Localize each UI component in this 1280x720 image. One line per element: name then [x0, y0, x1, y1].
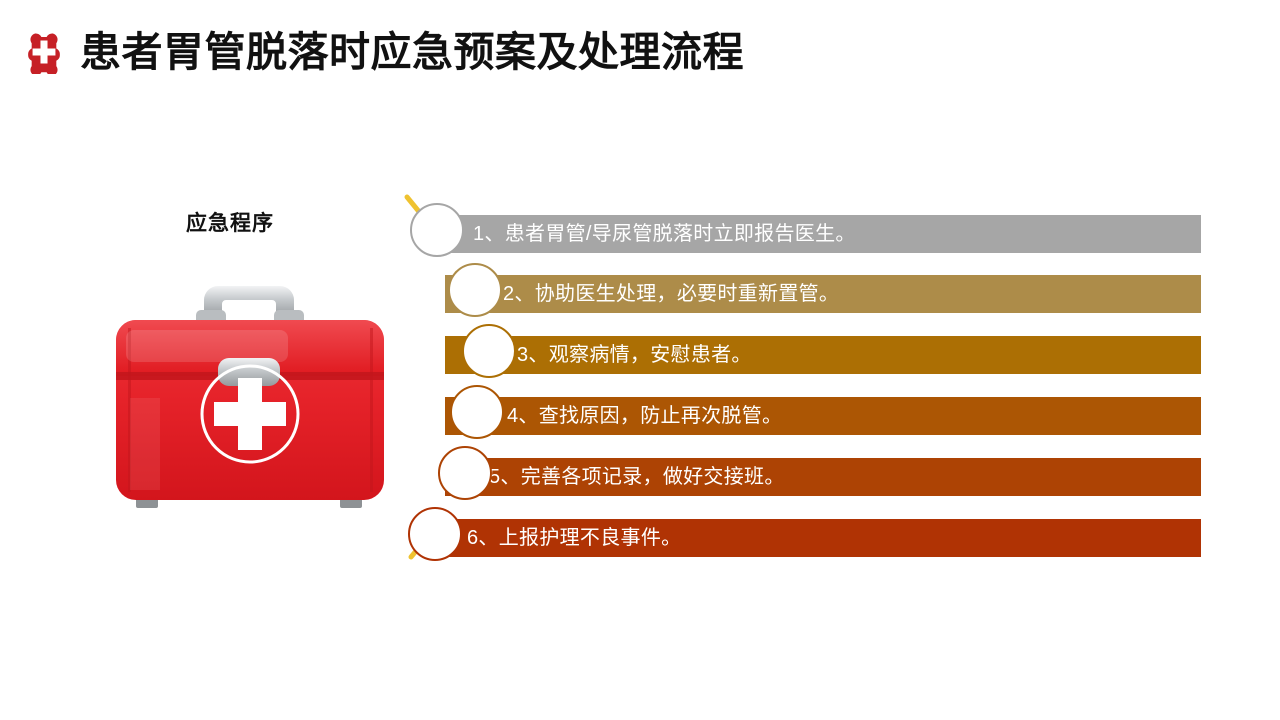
flow-node[interactable]	[438, 446, 492, 500]
flow-row: 6、上报护理不良事件。	[445, 519, 1201, 557]
slide-title-row: 患者胃管脱落时应急预案及处理流程	[22, 30, 744, 74]
flow-bar[interactable]: 2、协助医生处理，必要时重新置管。	[445, 275, 1201, 313]
slide-canvas: 患者胃管脱落时应急预案及处理流程 应急程序	[0, 0, 1280, 720]
flow-step-text: 2、协助医生处理，必要时重新置管。	[503, 284, 839, 304]
flow-node[interactable]	[410, 203, 464, 257]
flow-node[interactable]	[450, 385, 504, 439]
flow-bar[interactable]: 1、患者胃管/导尿管脱落时立即报告医生。	[445, 215, 1201, 253]
flow-row: 3、观察病情，安慰患者。	[445, 336, 1201, 374]
flow-step-text: 1、患者胃管/导尿管脱落时立即报告医生。	[473, 224, 856, 244]
flow-step-text: 6、上报护理不良事件。	[467, 528, 681, 548]
flow-row: 4、查找原因，防止再次脱管。	[445, 397, 1201, 435]
flow-node[interactable]	[462, 324, 516, 378]
flow-row: 1、患者胃管/导尿管脱落时立即报告医生。	[445, 215, 1201, 253]
first-aid-kit-icon	[108, 258, 393, 526]
red-cross-icon	[22, 30, 66, 74]
emergency-procedure-label: 应急程序	[186, 207, 274, 237]
page-title: 患者胃管脱落时应急预案及处理流程	[80, 32, 744, 73]
flow-row: 5、完善各项记录，做好交接班。	[445, 458, 1201, 496]
flow-step-text: 3、观察病情，安慰患者。	[517, 345, 752, 365]
flow-node[interactable]	[448, 263, 502, 317]
flow-bar[interactable]: 4、查找原因，防止再次脱管。	[445, 397, 1201, 435]
first-aid-kit-illustration	[108, 258, 393, 526]
flow-step-text: 5、完善各项记录，做好交接班。	[489, 467, 785, 487]
flow-bar[interactable]: 3、观察病情，安慰患者。	[445, 336, 1201, 374]
flow-bar[interactable]: 6、上报护理不良事件。	[445, 519, 1201, 557]
flow-bar[interactable]: 5、完善各项记录，做好交接班。	[445, 458, 1201, 496]
flow-row: 2、协助医生处理，必要时重新置管。	[445, 275, 1201, 313]
flow-connector-line	[395, 185, 535, 585]
flow-node[interactable]	[408, 507, 462, 561]
flow-step-text: 4、查找原因，防止再次脱管。	[507, 406, 782, 426]
